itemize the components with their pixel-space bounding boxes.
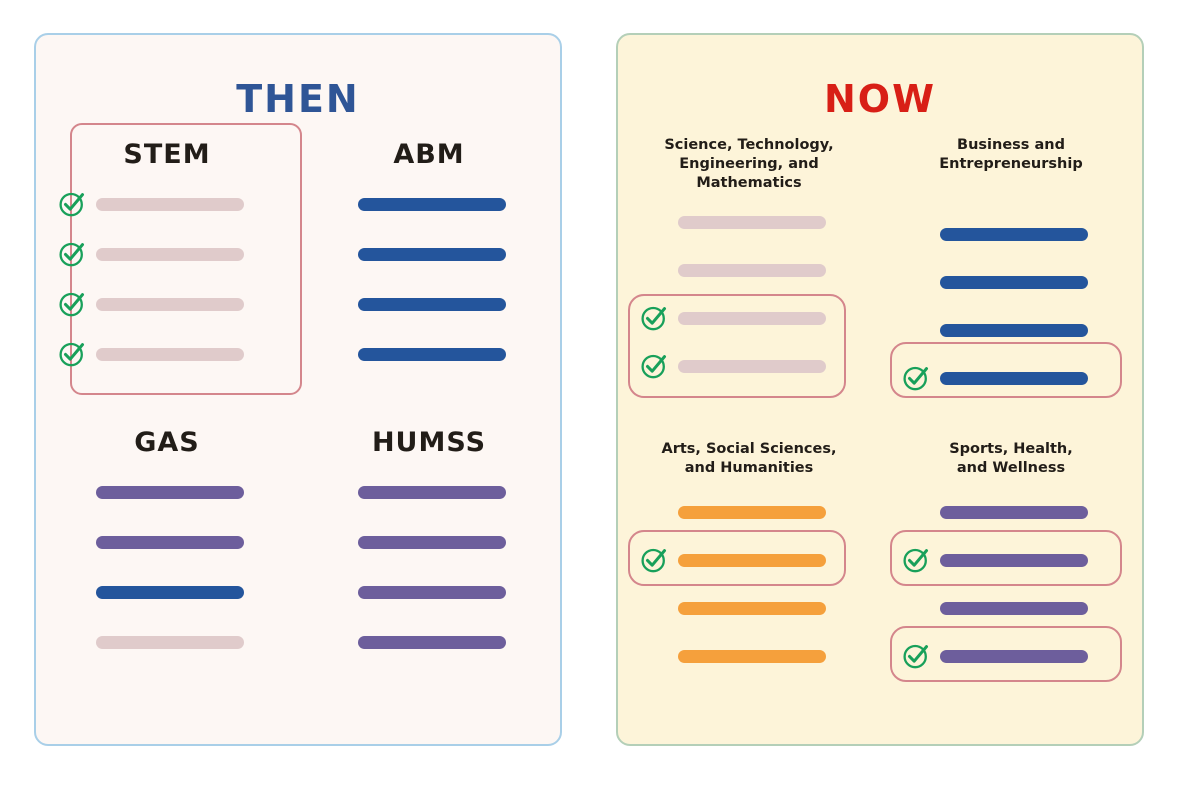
list-item[interactable] <box>52 229 282 279</box>
check-circle-icon <box>640 352 668 380</box>
panel-then: THEN STEM <box>34 33 562 746</box>
list-item[interactable] <box>52 179 282 229</box>
check-circle-icon <box>902 546 930 574</box>
track-sports-now[interactable]: Sports, Health, and Wellness <box>880 439 1142 680</box>
track-label-line: Entrepreneurship <box>939 155 1082 174</box>
content-bar <box>940 372 1088 385</box>
track-humss-then[interactable]: HUMSS <box>298 419 560 667</box>
list-item[interactable] <box>314 567 544 617</box>
track-rows-stem <box>52 179 282 379</box>
then-track-row-top: STEM <box>36 131 560 379</box>
list-item[interactable] <box>896 354 1126 402</box>
list-item[interactable] <box>314 279 544 329</box>
content-bar <box>940 506 1088 519</box>
content-bar <box>96 636 244 649</box>
content-bar <box>678 360 826 373</box>
list-item[interactable] <box>314 517 544 567</box>
list-item[interactable] <box>314 179 544 229</box>
list-item[interactable] <box>896 632 1126 680</box>
track-stem-now[interactable]: Science, Technology, Engineering, and Ma… <box>618 135 880 402</box>
check-circle-icon <box>58 190 86 218</box>
track-label-line: and Wellness <box>949 459 1073 478</box>
content-bar <box>358 198 506 211</box>
list-item[interactable] <box>634 198 864 246</box>
track-label-line: Mathematics <box>664 174 833 193</box>
list-item[interactable] <box>52 617 282 667</box>
list-item[interactable] <box>634 584 864 632</box>
check-circle-icon <box>902 642 930 670</box>
now-track-row-top: Science, Technology, Engineering, and Ma… <box>618 135 1142 402</box>
content-bar <box>358 348 506 361</box>
content-bar <box>678 216 826 229</box>
content-bar <box>96 586 244 599</box>
content-bar <box>678 650 826 663</box>
track-label-arts: Arts, Social Sciences, and Humanities <box>634 439 864 488</box>
content-bar <box>96 536 244 549</box>
content-bar <box>358 298 506 311</box>
list-item[interactable] <box>634 536 864 584</box>
panel-now: NOW Science, Technology, Engineering, an… <box>616 33 1144 746</box>
list-item[interactable] <box>52 517 282 567</box>
content-bar <box>358 248 506 261</box>
content-bar <box>96 198 244 211</box>
list-item[interactable] <box>896 488 1126 536</box>
check-circle-icon <box>58 290 86 318</box>
list-item[interactable] <box>634 632 864 680</box>
content-bar <box>678 554 826 567</box>
list-item[interactable] <box>634 488 864 536</box>
track-label-sports: Sports, Health, and Wellness <box>896 439 1126 488</box>
track-label-line: Business and <box>939 136 1082 155</box>
list-item[interactable] <box>634 342 864 390</box>
content-bar <box>940 276 1088 289</box>
track-rows-stem-now <box>634 198 864 390</box>
track-label-line: Engineering, and <box>664 155 833 174</box>
list-item[interactable] <box>314 229 544 279</box>
check-circle-icon <box>58 240 86 268</box>
list-item[interactable] <box>52 329 282 379</box>
list-item[interactable] <box>896 536 1126 584</box>
content-bar <box>358 636 506 649</box>
list-item[interactable] <box>896 584 1126 632</box>
track-label-abm: ABM <box>314 131 544 179</box>
track-label-stem: STEM <box>52 131 282 179</box>
content-bar <box>96 486 244 499</box>
track-label-line: Sports, Health, <box>949 440 1073 459</box>
content-bar <box>940 228 1088 241</box>
track-label-humss: HUMSS <box>314 419 544 467</box>
content-bar <box>940 650 1088 663</box>
panel-now-title: NOW <box>618 77 1142 121</box>
list-item[interactable] <box>896 258 1126 306</box>
comparison-infographic: THEN STEM <box>0 0 1200 791</box>
content-bar <box>358 536 506 549</box>
panel-then-title: THEN <box>36 77 560 121</box>
content-bar <box>940 324 1088 337</box>
list-item[interactable] <box>634 294 864 342</box>
track-rows-abm <box>314 179 544 379</box>
track-business-now[interactable]: Business and Entrepreneurship <box>880 135 1142 402</box>
check-circle-icon <box>58 340 86 368</box>
list-item[interactable] <box>314 329 544 379</box>
content-bar <box>678 506 826 519</box>
content-bar <box>678 602 826 615</box>
content-bar <box>96 248 244 261</box>
list-item[interactable] <box>634 246 864 294</box>
now-track-row-bottom: Arts, Social Sciences, and Humanities <box>618 439 1142 680</box>
track-abm-then[interactable]: ABM <box>298 131 560 379</box>
track-label-business: Business and Entrepreneurship <box>896 135 1126 198</box>
content-bar <box>940 602 1088 615</box>
list-item[interactable] <box>896 306 1126 354</box>
track-label-line: and Humanities <box>662 459 837 478</box>
content-bar <box>678 264 826 277</box>
track-rows-gas <box>52 467 282 667</box>
track-label-line: Arts, Social Sciences, <box>662 440 837 459</box>
check-circle-icon <box>902 364 930 392</box>
track-rows-humss <box>314 467 544 667</box>
list-item[interactable] <box>314 617 544 667</box>
check-circle-icon <box>640 546 668 574</box>
content-bar <box>96 348 244 361</box>
track-label-line: Science, Technology, <box>664 136 833 155</box>
track-label-gas: GAS <box>52 419 282 467</box>
track-label-stem-now: Science, Technology, Engineering, and Ma… <box>634 135 864 198</box>
list-item[interactable] <box>896 210 1126 258</box>
list-item[interactable] <box>52 279 282 329</box>
track-gas-then[interactable]: GAS <box>36 419 298 667</box>
track-stem-then[interactable]: STEM <box>36 131 298 379</box>
track-rows-business <box>896 210 1126 402</box>
content-bar <box>678 312 826 325</box>
content-bar <box>96 298 244 311</box>
list-item[interactable] <box>52 467 282 517</box>
list-item[interactable] <box>314 467 544 517</box>
track-rows-arts <box>634 488 864 680</box>
check-circle-icon <box>640 304 668 332</box>
content-bar <box>358 586 506 599</box>
content-bar <box>940 554 1088 567</box>
list-item[interactable] <box>52 567 282 617</box>
content-bar <box>358 486 506 499</box>
track-rows-sports <box>896 488 1126 680</box>
track-arts-now[interactable]: Arts, Social Sciences, and Humanities <box>618 439 880 680</box>
then-track-row-bottom: GAS <box>36 419 560 667</box>
